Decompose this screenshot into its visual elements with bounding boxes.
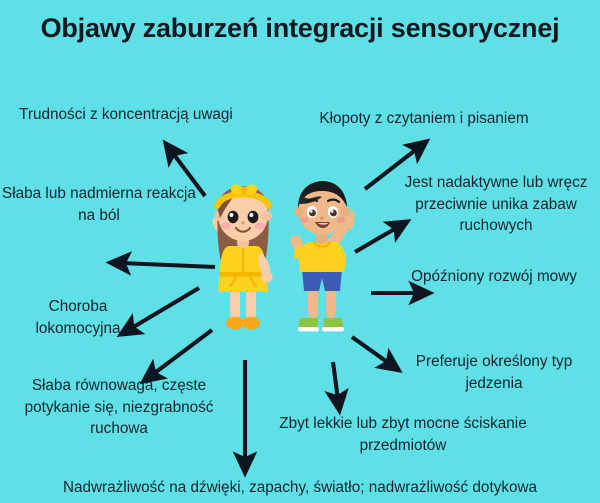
children-illustration: [196, 160, 376, 345]
symptom-label-motion-sickness: Choroba lokomocyjna: [8, 296, 148, 339]
sneaker-left: [298, 318, 319, 331]
hair-bow-icon: [231, 184, 257, 194]
boy-figure: [290, 181, 354, 331]
infographic-canvas: Objawy zaburzeń integracji sensorycznej …: [0, 0, 600, 503]
symptom-label-concentration: Trudności z koncentracją uwagi: [8, 104, 244, 126]
symptom-label-pain: Słaba lub nadmierna reakcja na ból: [0, 183, 198, 226]
symptom-label-speech: Opóźniony rozwój mowy: [404, 266, 584, 288]
symptom-label-balance: Słaba równowaga, częste potykanie się, n…: [0, 375, 238, 440]
symptom-label-grip: Zbyt lekkie lub zbyt mocne ściskanie prz…: [276, 413, 530, 456]
page-title: Objawy zaburzeń integracji sensorycznej: [0, 14, 600, 44]
symptom-label-food: Preferuje określony typ jedzenia: [396, 351, 592, 394]
arrow-to-grip: [333, 362, 338, 400]
sneaker-right: [322, 318, 344, 331]
symptom-label-hyperactive: Jest nadaktywne lub wręcz przeciwnie uni…: [398, 172, 594, 237]
girl-figure: [212, 184, 272, 329]
symptom-label-reading-writing: Kłopoty z czytaniem i pisaniem: [290, 108, 558, 130]
symptom-label-sensitivity: Nadwrażliwość na dźwięki, zapachy, świat…: [0, 477, 600, 499]
